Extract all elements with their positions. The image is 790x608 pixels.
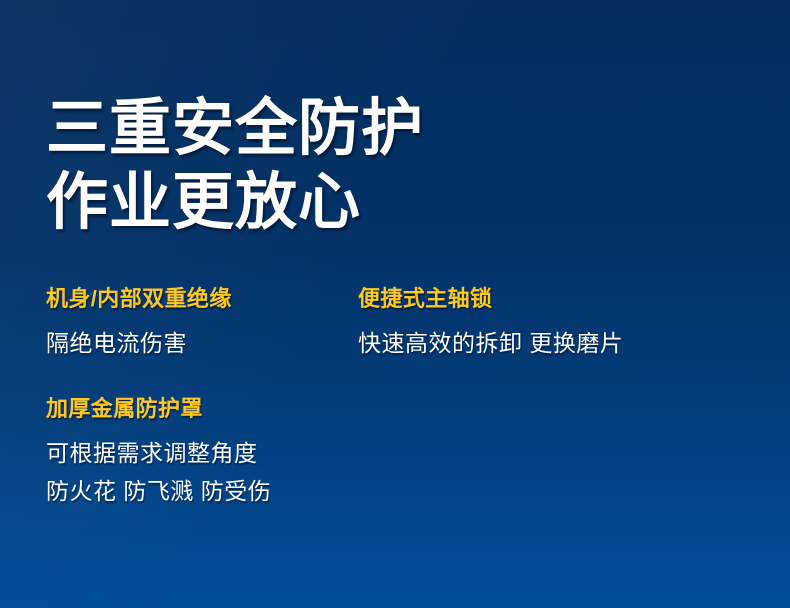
feature-list: 机身/内部双重绝缘 隔绝电流伤害 便捷式主轴锁 快速高效的拆卸 更换磨片 加厚金… xyxy=(46,284,758,508)
headline-block: 三重安全防护 作业更放心 xyxy=(46,92,424,240)
headline-line-1: 三重安全防护 xyxy=(46,92,424,166)
feature-row: 加厚金属防护罩 可根据需求调整角度 防火花 防飞溅 防受伤 xyxy=(46,394,758,508)
feature-description-line: 快速高效的拆卸 更换磨片 xyxy=(358,326,758,360)
feature-item-spindle-lock: 便捷式主轴锁 快速高效的拆卸 更换磨片 xyxy=(358,284,758,360)
feature-description-line: 可根据需求调整角度 xyxy=(46,436,358,470)
feature-description-line: 隔绝电流伤害 xyxy=(46,326,358,360)
headline-line-2: 作业更放心 xyxy=(46,166,424,240)
feature-title: 加厚金属防护罩 xyxy=(46,394,358,424)
feature-description-line: 防火花 防飞溅 防受伤 xyxy=(46,474,358,508)
feature-item-insulation: 机身/内部双重绝缘 隔绝电流伤害 xyxy=(46,284,358,360)
feature-title: 机身/内部双重绝缘 xyxy=(46,284,358,314)
promo-banner: 三重安全防护 作业更放心 机身/内部双重绝缘 隔绝电流伤害 便捷式主轴锁 快速高… xyxy=(0,0,790,608)
feature-title: 便捷式主轴锁 xyxy=(358,284,758,314)
feature-row: 机身/内部双重绝缘 隔绝电流伤害 便捷式主轴锁 快速高效的拆卸 更换磨片 xyxy=(46,284,758,360)
feature-item-guard: 加厚金属防护罩 可根据需求调整角度 防火花 防飞溅 防受伤 xyxy=(46,394,358,508)
